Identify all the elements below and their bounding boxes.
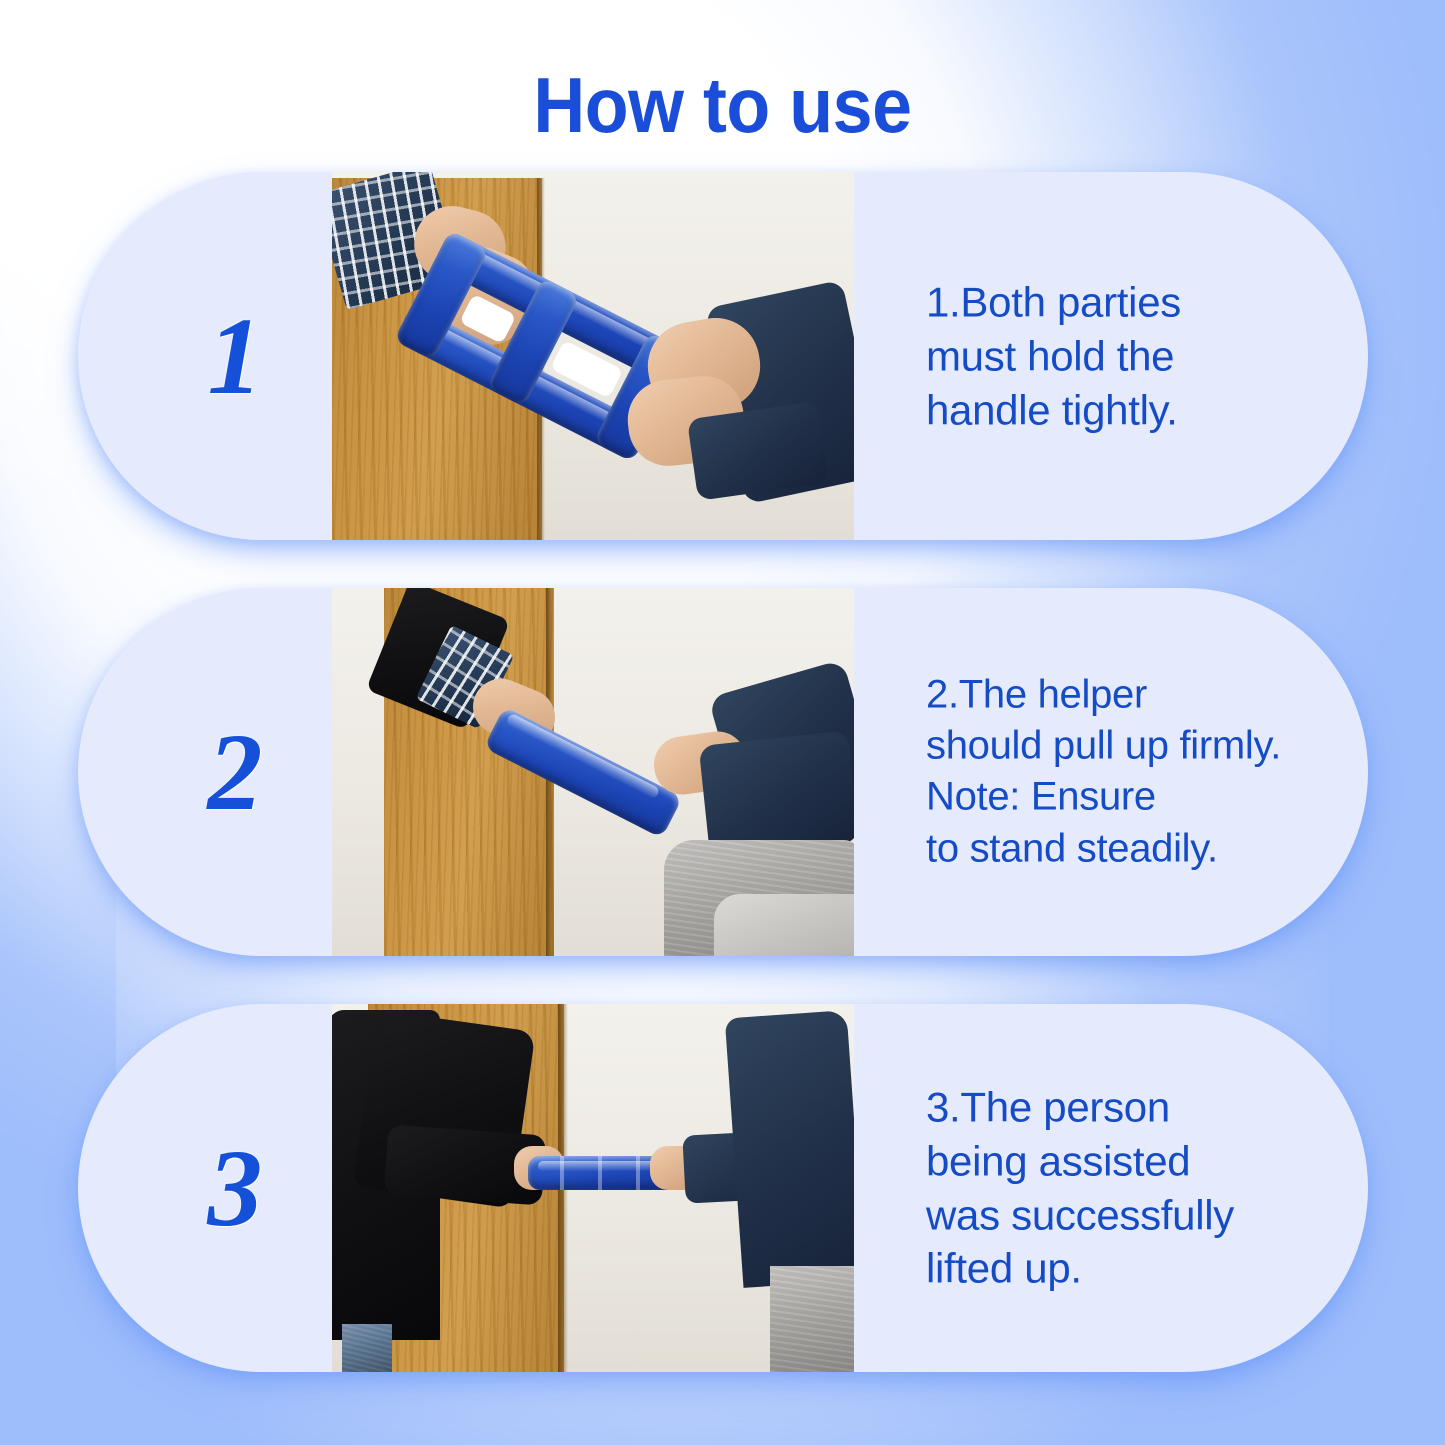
step-description-3: 3.The person being assisted was successf… [926, 1081, 1406, 1296]
step-description-1: 1.Both parties must hold the handle tigh… [926, 275, 1396, 436]
how-to-use-infographic: How to use 1 [0, 0, 1445, 1445]
step-number-3: 3 [170, 1133, 300, 1243]
step-number-2: 2 [170, 717, 300, 827]
step-card-3: 3 [78, 1004, 1368, 1372]
step-description-2: 2.The helper should pull up firmly. Note… [926, 670, 1426, 875]
step-card-1: 1 [78, 172, 1368, 540]
page-title: How to use [58, 66, 1387, 144]
step-photo-2 [332, 588, 854, 956]
step-card-2: 2 2.The helper sh [78, 588, 1368, 956]
step-number-1: 1 [170, 301, 300, 411]
step-photo-3 [332, 1004, 854, 1372]
step-photo-1 [332, 172, 854, 540]
